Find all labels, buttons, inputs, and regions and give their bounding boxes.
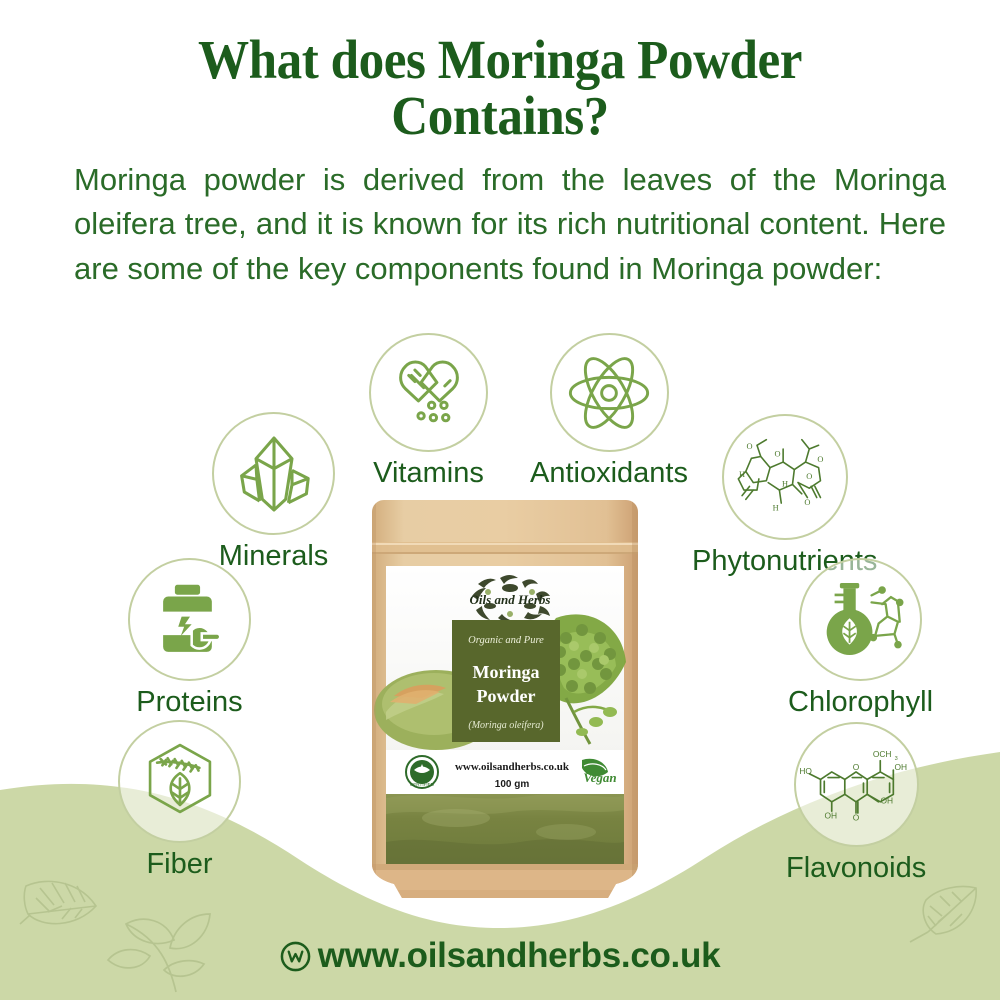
proteins-icon-circle — [128, 558, 251, 681]
minerals-icon-circle — [212, 412, 335, 535]
label-botanical-name: (Moringa oleifera) — [468, 720, 544, 731]
label-tagline: Organic and Pure — [468, 635, 544, 646]
svg-text:OCH: OCH — [873, 749, 892, 759]
svg-text:H: H — [782, 479, 788, 488]
svg-text:OH: OH — [825, 810, 838, 820]
svg-text:O: O — [774, 449, 780, 458]
chlorophyll-label: Chlorophyll — [788, 688, 933, 717]
page-title: What does Moringa Powder Contains? — [35, 0, 965, 144]
nutrient-badge-vitamins[interactable]: Vitamins — [369, 333, 488, 488]
svg-text:CERTIFIED: CERTIFIED — [410, 782, 435, 787]
svg-text:H: H — [772, 504, 778, 513]
intro-paragraph-text: Moringa powder is derived from the leave… — [74, 162, 946, 286]
infographic-canvas: What does Moringa Powder Contains? Morin… — [0, 0, 1000, 1000]
crystal-gem-icon — [229, 429, 319, 519]
capsule-pill-icon — [385, 349, 473, 437]
flavonoid-molecule-icon: O OCH 3 OH OH O OH HO — [800, 729, 912, 841]
protein-jar-scoop-icon — [148, 578, 232, 662]
svg-text:O: O — [853, 762, 860, 772]
nutrient-badge-fiber[interactable]: Fiber — [118, 720, 241, 879]
hexagon-wheat-icon — [136, 738, 224, 826]
label-weight: 100 gm — [495, 779, 530, 790]
label-product-name-line1: Moringa — [473, 662, 540, 682]
svg-text:O: O — [806, 472, 812, 481]
pouch-zipper-seal — [372, 542, 638, 554]
product-package[interactable]: Oils and Herbs Organic and Pure Moringa … — [360, 498, 650, 904]
svg-text:OH: OH — [881, 795, 894, 805]
intro-paragraph: Moringa powder is derived from the leave… — [74, 158, 946, 291]
nutrient-badge-minerals[interactable]: Minerals — [212, 412, 335, 571]
nutrient-badge-proteins[interactable]: Proteins — [128, 558, 251, 717]
nutrient-badge-flavonoids[interactable]: O OCH 3 OH OH O OH HO Flavonoids — [786, 722, 926, 883]
svg-text:O: O — [804, 498, 810, 507]
nutrient-badge-chlorophyll[interactable]: Chlorophyll — [788, 558, 933, 717]
phytonutrients-icon-circle: O O O H H O H O — [722, 414, 848, 540]
vitamins-label: Vitamins — [373, 459, 484, 488]
flavonoids-label: Flavonoids — [786, 854, 926, 883]
footer-website[interactable]: www.oilsandherbs.co.uk — [0, 936, 1000, 976]
footer-url-text: www.oilsandherbs.co.uk — [318, 936, 720, 976]
flask-leaf-icon — [817, 576, 905, 664]
svg-text:O: O — [853, 812, 860, 822]
vitamins-icon-circle — [369, 333, 488, 452]
svg-text:O: O — [817, 455, 823, 464]
powder-window — [386, 794, 624, 864]
fiber-label: Fiber — [146, 850, 212, 879]
vegan-badge-text: Vegan — [583, 770, 616, 785]
fiber-icon-circle — [118, 720, 241, 843]
label-website: www.oilsandherbs.co.uk — [455, 761, 570, 773]
label-product-name-line2: Powder — [477, 686, 536, 706]
svg-text:HO: HO — [800, 765, 812, 775]
page-title-line-1: What does Moringa Powder — [198, 29, 802, 90]
chlorophyll-icon-circle — [799, 558, 922, 681]
antioxidants-label: Antioxidants — [530, 459, 688, 488]
svg-text:H: H — [739, 470, 745, 479]
proteins-label: Proteins — [136, 688, 242, 717]
label-info-box: Organic and Pure Moringa Powder (Moringa… — [452, 620, 560, 742]
svg-text:O: O — [746, 442, 752, 451]
certification-seal-icon: CERTIFIED — [406, 756, 438, 788]
brand-logo-text: Oils and Herbs — [470, 592, 551, 607]
label-bottom-strip: CERTIFIED www.oilsandherbs.co.uk 100 gm … — [386, 750, 624, 794]
svg-text:3: 3 — [895, 755, 898, 761]
page-title-line-2: Contains? — [391, 85, 609, 146]
flavonoids-icon-circle: O OCH 3 OH OH O OH HO — [794, 722, 919, 847]
w-circle-icon — [280, 941, 311, 972]
decorative-leaf-right-icon — [908, 882, 984, 944]
decorative-leaf-left-icon — [18, 872, 104, 938]
header: What does Moringa Powder Contains? — [0, 0, 1000, 144]
pouch-bottom-gusset — [360, 864, 650, 904]
svg-text:OH: OH — [895, 762, 908, 772]
nutrient-badge-phytonutrients[interactable]: O O O H H O H O Phytonutrients — [692, 414, 877, 576]
antioxidants-icon-circle — [550, 333, 669, 452]
molecule-structure-icon: O O O H H O H O — [729, 421, 841, 533]
nutrient-badge-antioxidants[interactable]: Antioxidants — [530, 333, 688, 488]
atom-icon — [563, 347, 655, 439]
